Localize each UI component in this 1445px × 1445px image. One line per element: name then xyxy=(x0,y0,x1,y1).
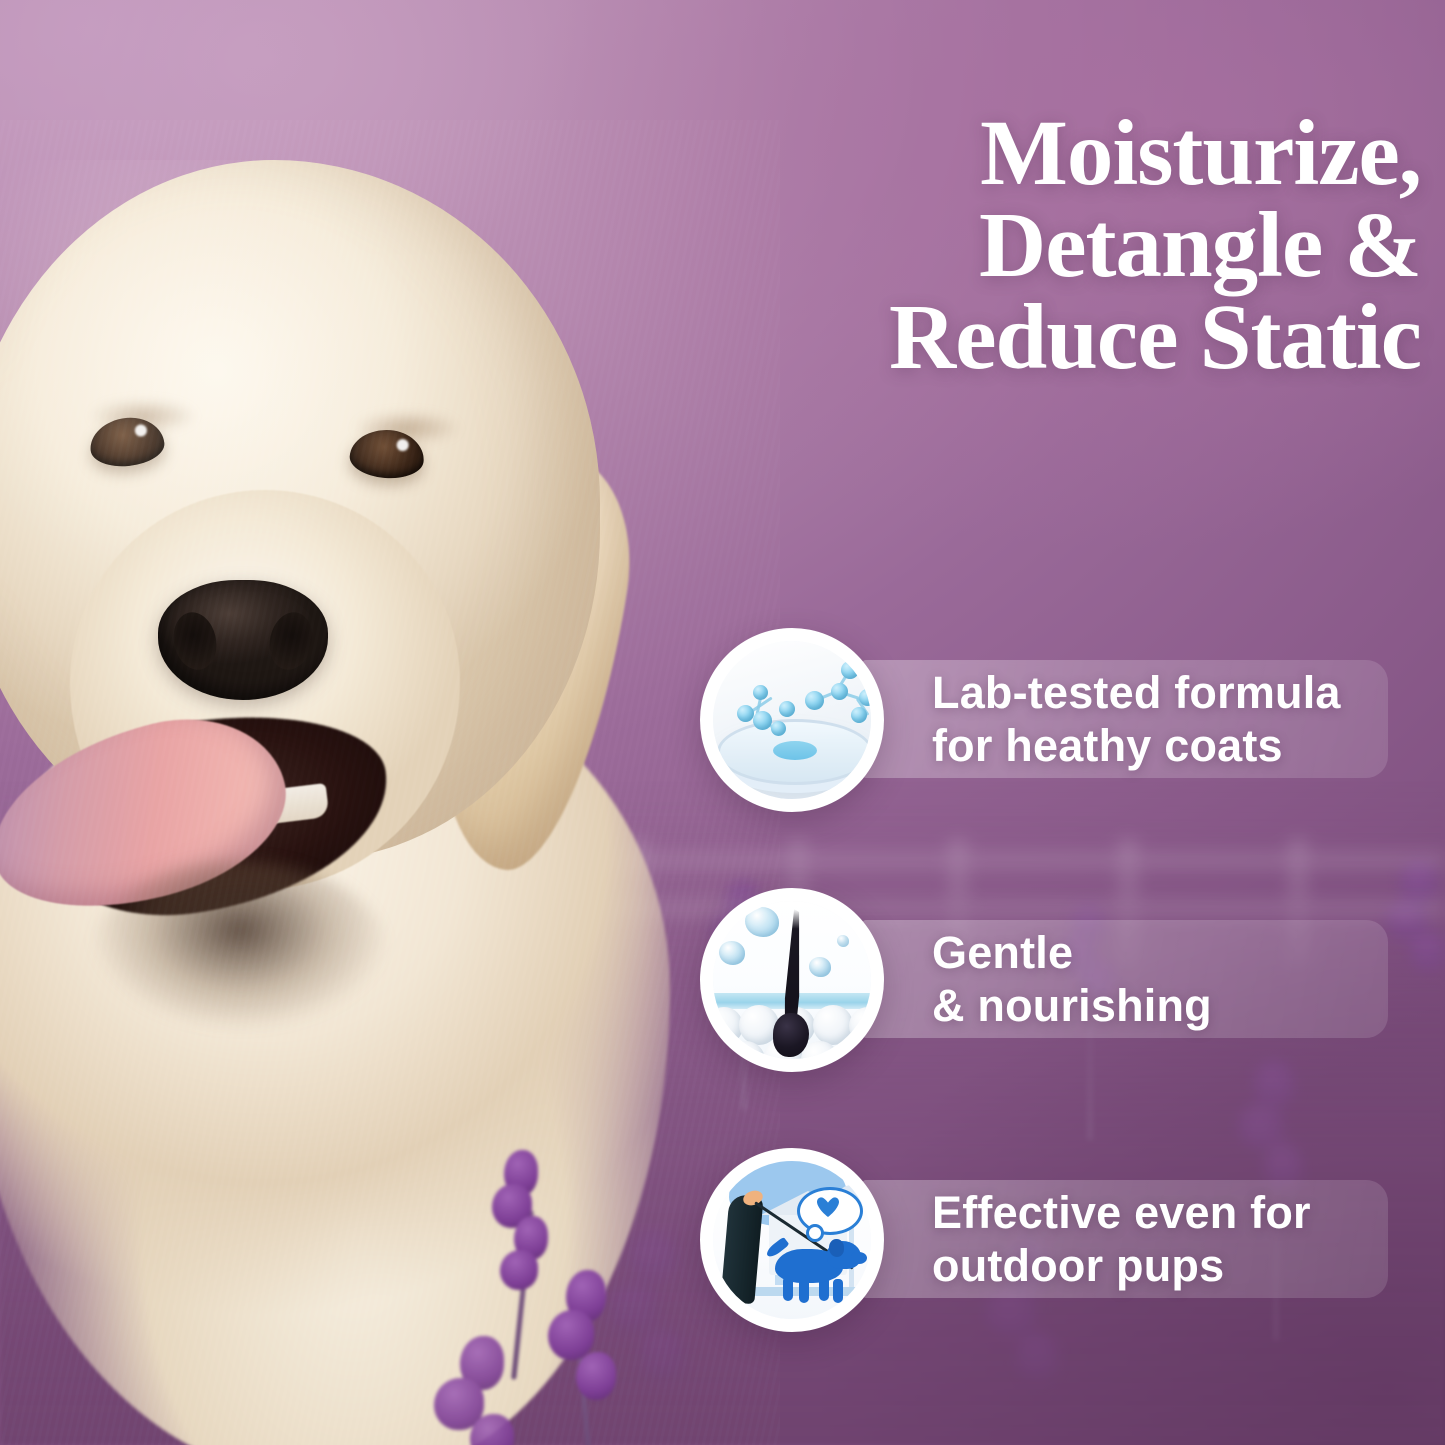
product-feature-banner: Moisturize, Detangle & Reduce Static xyxy=(0,0,1445,1445)
feature-card: Lab-tested formula for heathy coats xyxy=(700,660,1400,778)
dog-nose xyxy=(158,580,328,700)
headline-line-3: Reduce Static xyxy=(661,292,1421,384)
headline: Moisturize, Detangle & Reduce Static xyxy=(661,108,1421,384)
hair-follicle-icon xyxy=(700,888,884,1072)
feature-card: Effective even for outdoor pups xyxy=(700,1180,1400,1298)
dog-on-leash-icon xyxy=(700,1148,884,1332)
headline-line-1: Moisturize, xyxy=(661,108,1421,200)
feature-list: Lab-tested formula for heathy coats xyxy=(700,660,1400,1298)
feature-card: Gentle & nourishing xyxy=(700,920,1400,1038)
petri-dish-molecule-icon xyxy=(700,628,884,812)
feature-card-label: Gentle & nourishing xyxy=(932,926,1212,1032)
feature-card-label: Effective even for outdoor pups xyxy=(932,1186,1311,1292)
headline-line-2: Detangle & xyxy=(661,200,1421,292)
feature-card-label: Lab-tested formula for heathy coats xyxy=(932,666,1341,772)
